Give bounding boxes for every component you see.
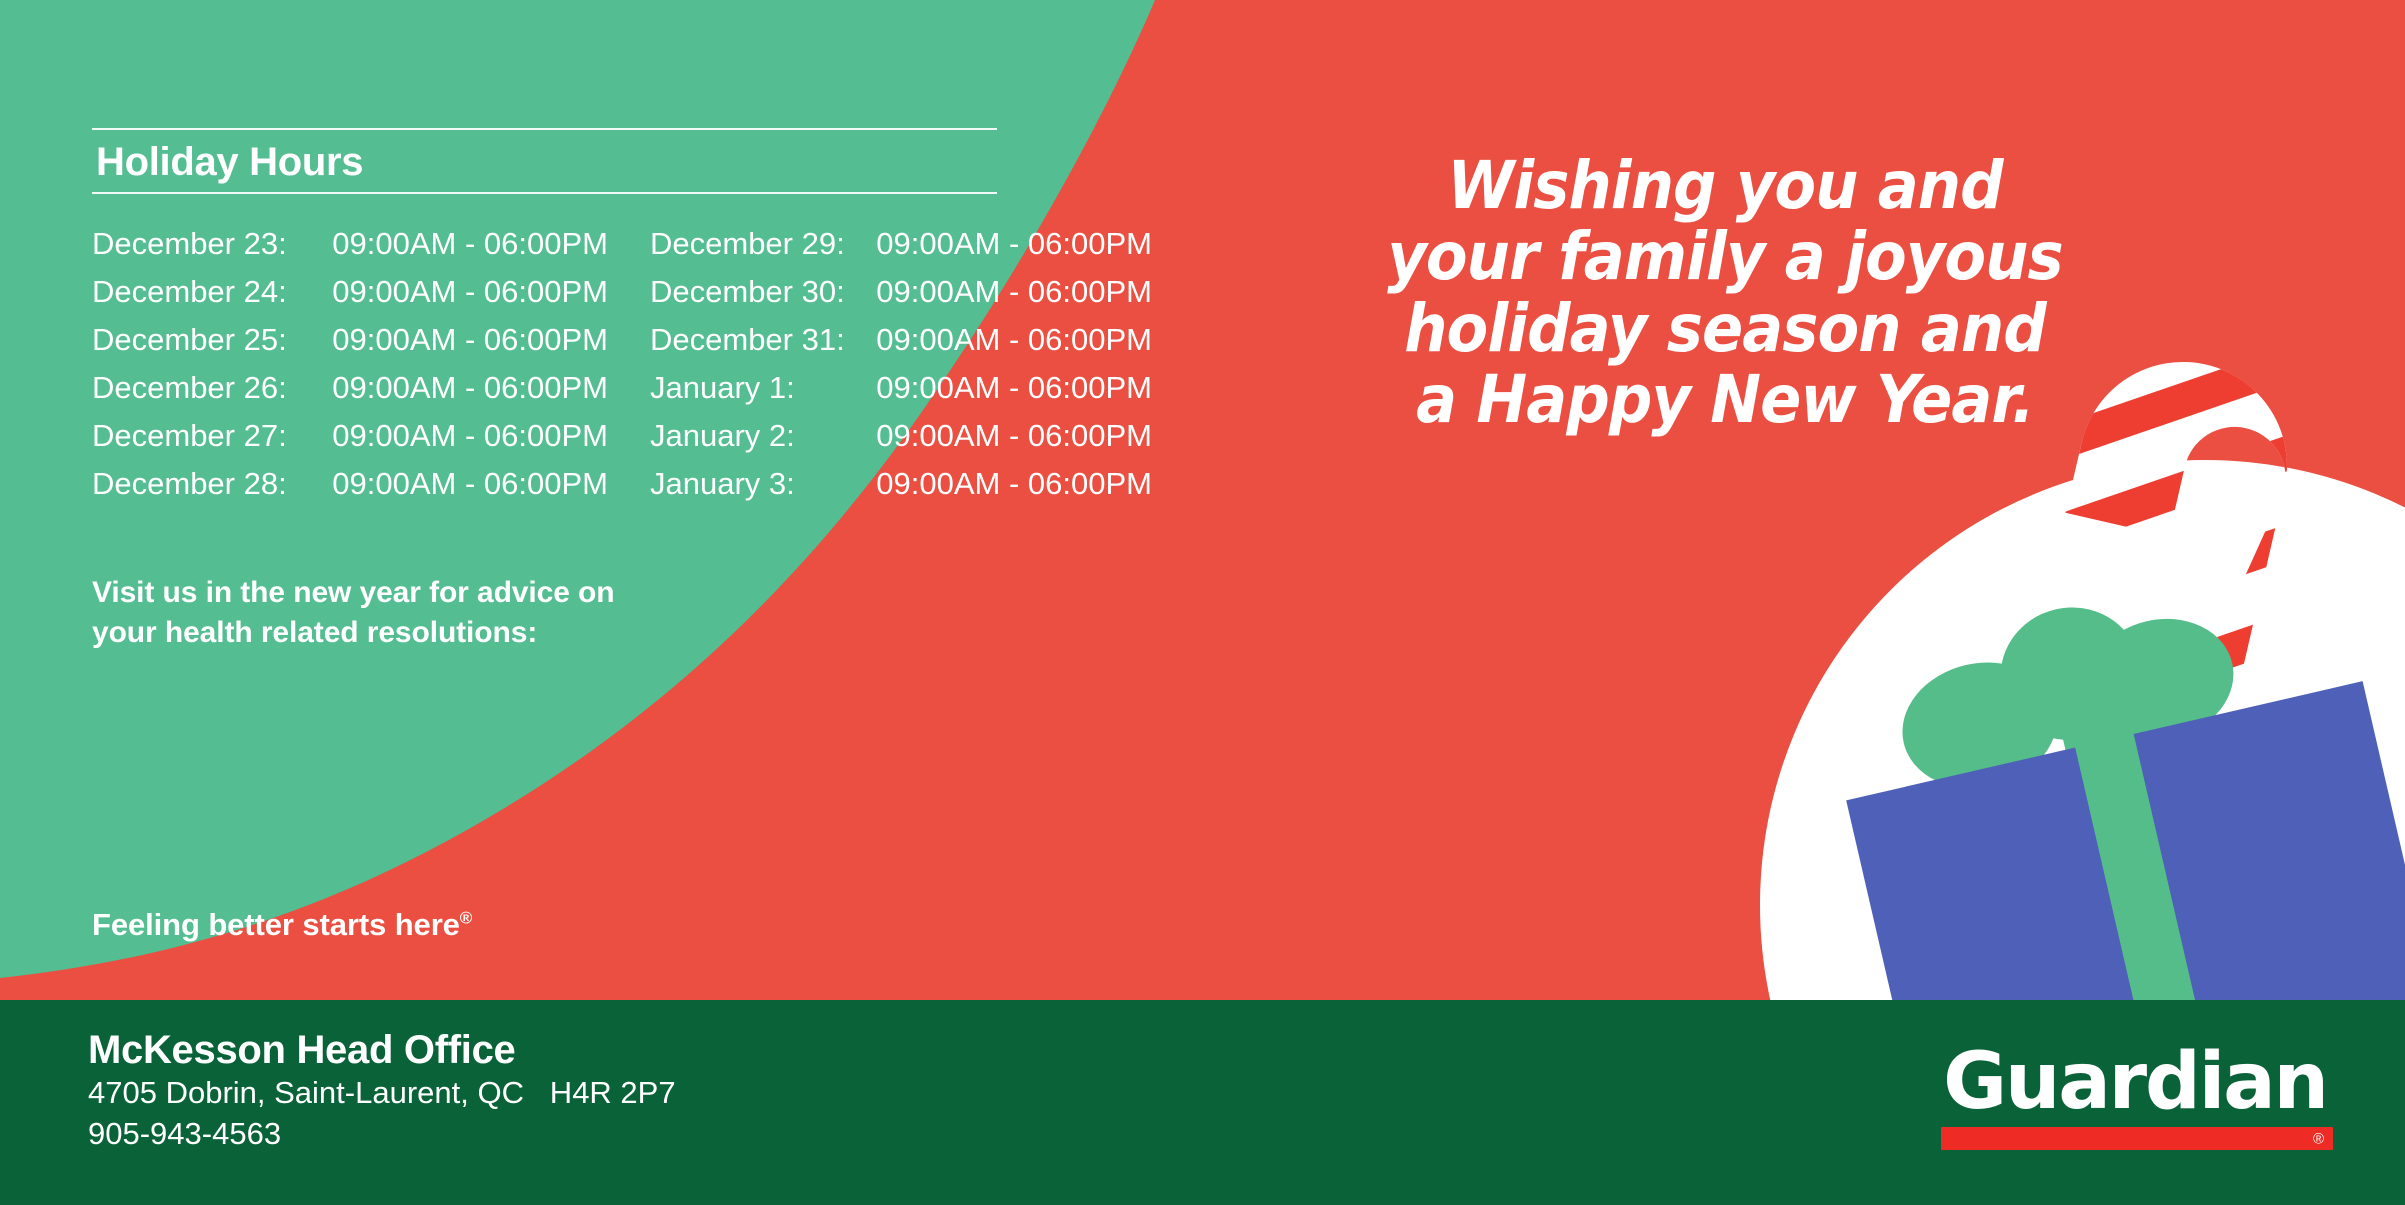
greeting-line-1: Wishing you and (1362, 150, 2089, 221)
hours-date: January 3: (650, 460, 862, 508)
registered-trademark-icon: ® (460, 909, 472, 928)
hours-columns: December 23: 09:00AM - 06:00PM December … (92, 220, 1152, 508)
guardian-logo-bar: ® (1941, 1127, 2333, 1150)
hours-row: December 23: 09:00AM - 06:00PM (92, 220, 608, 268)
guardian-wordmark: Guardian (1941, 1047, 2333, 1119)
hours-date: December 24: (92, 268, 320, 316)
hours-row: January 2: 09:00AM - 06:00PM (650, 412, 1152, 460)
footer-phone-number: 905-943-4563 (88, 1114, 676, 1155)
greeting-line-3: holiday season and (1362, 293, 2089, 364)
hours-date: December 27: (92, 412, 320, 460)
hours-time: 09:00AM - 06:00PM (862, 364, 1152, 412)
greeting-line-4: a Happy New Year. (1362, 364, 2089, 435)
hours-date: December 25: (92, 316, 320, 364)
hours-date: December 29: (650, 220, 862, 268)
hours-date: December 23: (92, 220, 320, 268)
greeting-message: Wishing you and your family a joyous hol… (1330, 150, 2120, 435)
hours-time: 09:00AM - 06:00PM (862, 220, 1152, 268)
hours-time: 09:00AM - 06:00PM (320, 316, 608, 364)
registered-trademark-icon: ® (2313, 1131, 2324, 1146)
greeting-line-2: your family a joyous (1362, 221, 2089, 292)
brand-tagline-text: Feeling better starts here (92, 907, 460, 942)
holiday-hours-panel: Holiday Hours December 23: 09:00AM - 06:… (92, 128, 1152, 508)
hours-row: December 29: 09:00AM - 06:00PM (650, 220, 1152, 268)
hours-date: January 2: (650, 412, 862, 460)
hours-row: January 3: 09:00AM - 06:00PM (650, 460, 1152, 508)
hours-date: December 26: (92, 364, 320, 412)
hours-time: 09:00AM - 06:00PM (862, 316, 1152, 364)
hours-row: January 1: 09:00AM - 06:00PM (650, 364, 1152, 412)
footer-office-name: McKesson Head Office (88, 1028, 676, 1073)
hours-date: January 1: (650, 364, 862, 412)
hours-date: December 28: (92, 460, 320, 508)
visit-note: Visit us in the new year for advice on y… (92, 573, 614, 653)
hours-date: December 30: (650, 268, 862, 316)
hours-row: December 24: 09:00AM - 06:00PM (92, 268, 608, 316)
hours-time: 09:00AM - 06:00PM (320, 460, 608, 508)
visit-note-line-1: Visit us in the new year for advice on (92, 573, 614, 613)
hours-column-right: December 29: 09:00AM - 06:00PM December … (650, 220, 1152, 508)
footer-address-block: McKesson Head Office 4705 Dobrin, Saint-… (88, 1028, 676, 1155)
guardian-logo: Guardian ® (1941, 1047, 2333, 1150)
brand-tagline: Feeling better starts here® (92, 907, 472, 943)
hours-row: December 31: 09:00AM - 06:00PM (650, 316, 1152, 364)
holiday-greeting-card: Holiday Hours December 23: 09:00AM - 06:… (0, 0, 2405, 1205)
hours-time: 09:00AM - 06:00PM (862, 412, 1152, 460)
hours-time: 09:00AM - 06:00PM (320, 220, 608, 268)
footer-street-address: 4705 Dobrin, Saint-Laurent, QC H4R 2P7 (88, 1073, 676, 1114)
hours-row: December 28: 09:00AM - 06:00PM (92, 460, 608, 508)
hours-time: 09:00AM - 06:00PM (320, 412, 608, 460)
visit-note-line-2: your health related resolutions: (92, 613, 614, 653)
hours-title: Holiday Hours (92, 130, 1152, 192)
hours-column-left: December 23: 09:00AM - 06:00PM December … (92, 220, 608, 508)
hours-row: December 26: 09:00AM - 06:00PM (92, 364, 608, 412)
hours-row: December 25: 09:00AM - 06:00PM (92, 316, 608, 364)
hours-date: December 31: (650, 316, 862, 364)
hours-time: 09:00AM - 06:00PM (862, 268, 1152, 316)
hours-time: 09:00AM - 06:00PM (320, 268, 608, 316)
hours-time: 09:00AM - 06:00PM (320, 364, 608, 412)
hours-row: December 30: 09:00AM - 06:00PM (650, 268, 1152, 316)
hours-time: 09:00AM - 06:00PM (862, 460, 1152, 508)
hours-row: December 27: 09:00AM - 06:00PM (92, 412, 608, 460)
hours-rule-bottom (92, 192, 997, 194)
